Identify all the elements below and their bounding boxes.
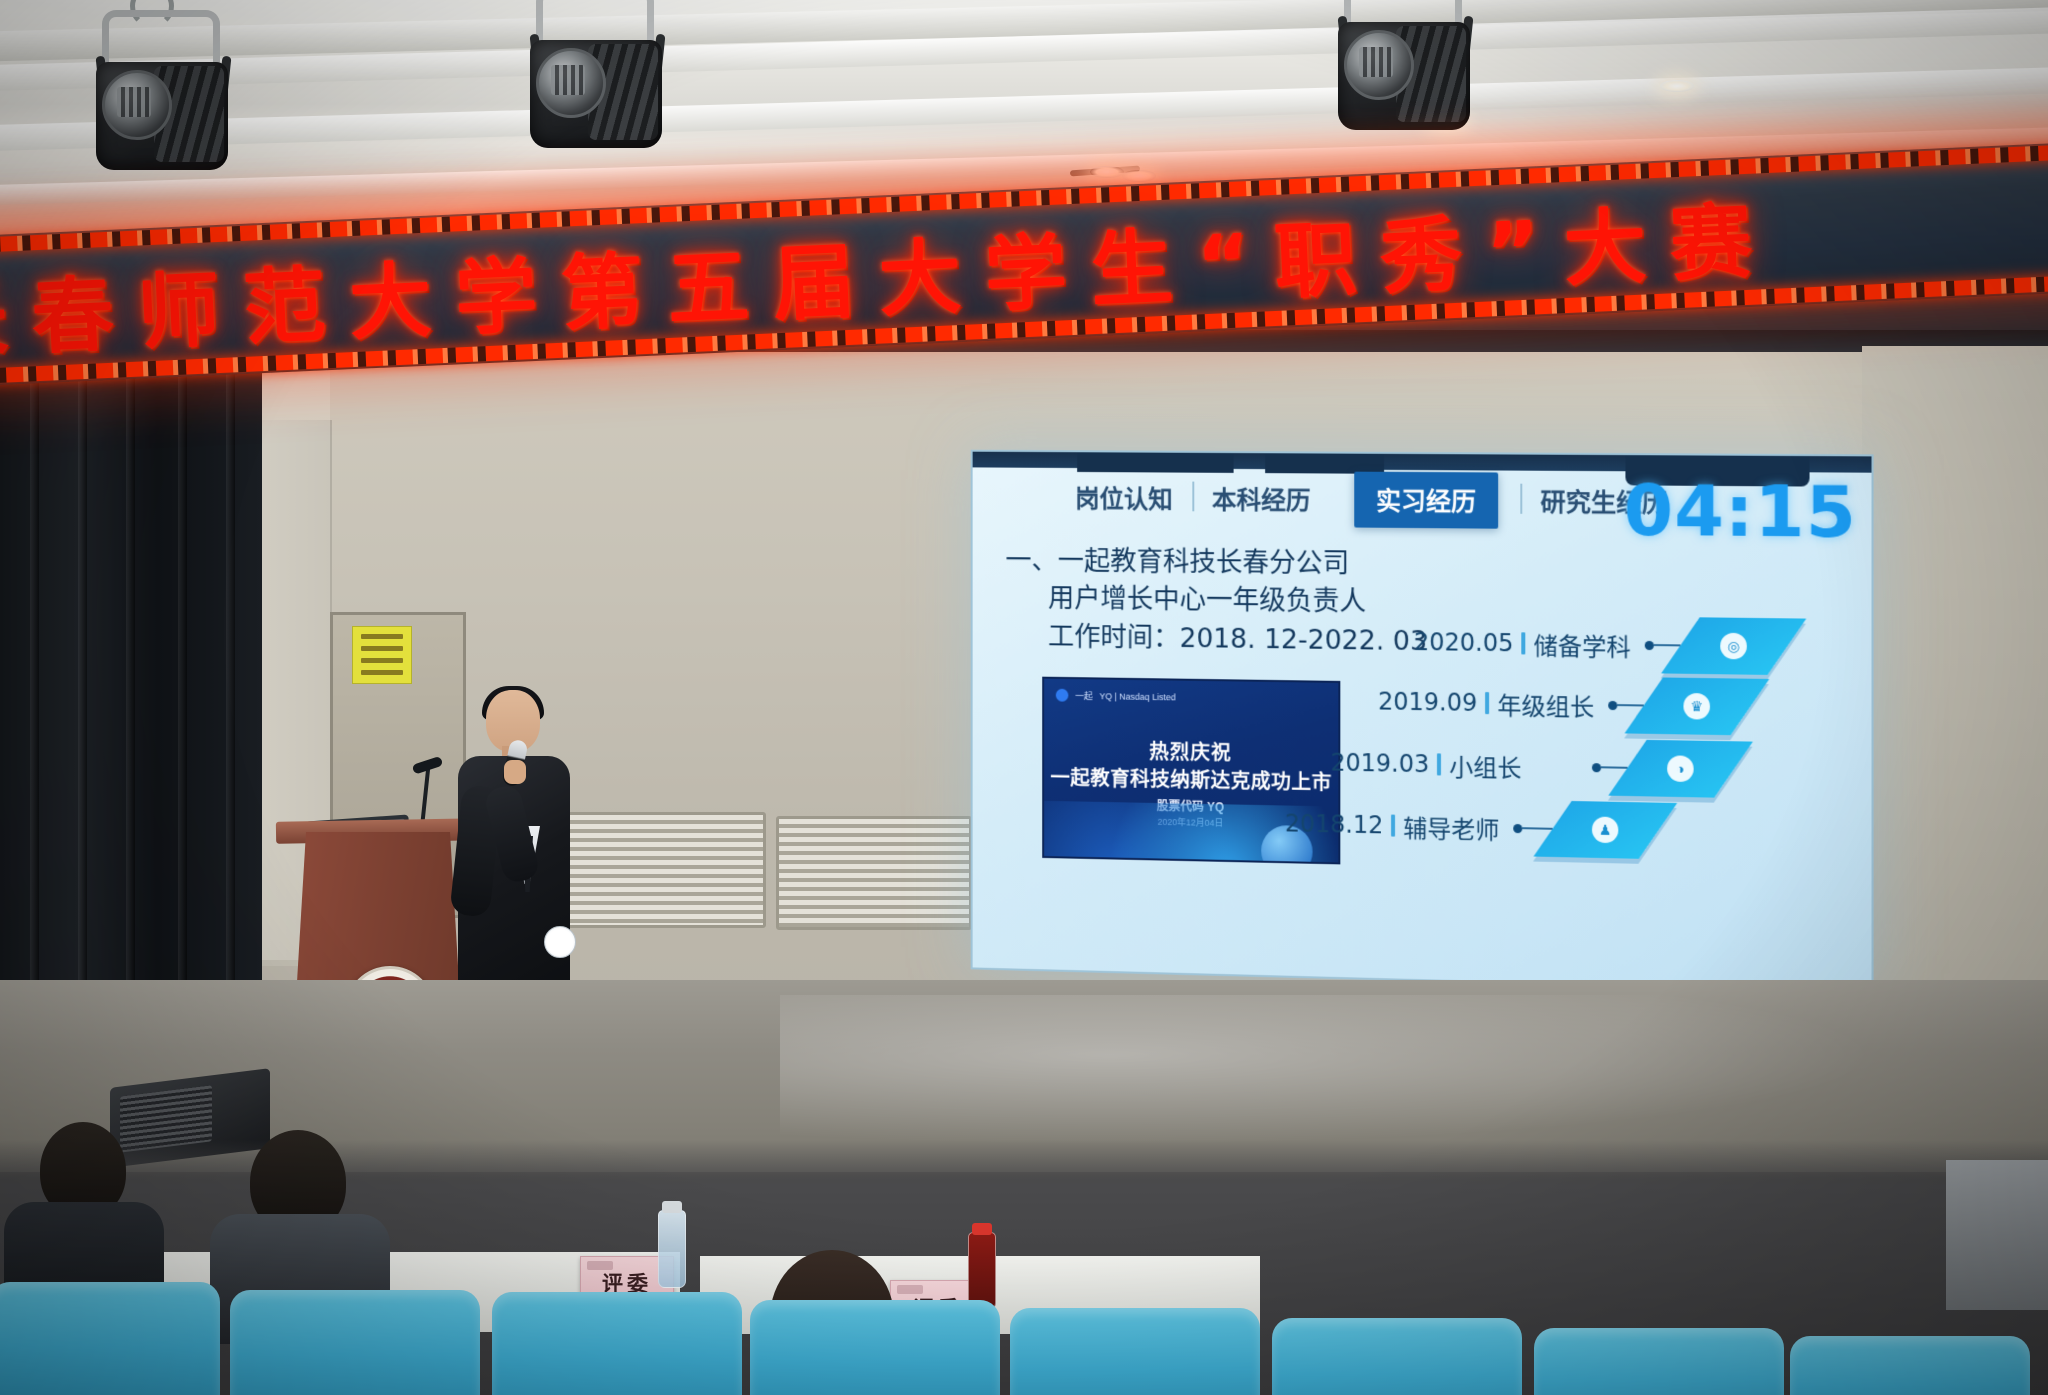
tab-job-awareness[interactable]: 岗位认知 bbox=[1056, 474, 1193, 522]
brand-logo-icon bbox=[1056, 689, 1069, 702]
timeline-dot bbox=[1608, 700, 1617, 709]
curtain-fold bbox=[178, 338, 187, 1038]
ceiling-downlight bbox=[1660, 80, 1694, 92]
slide-line-company: 一、一起教育科技长春分公司 bbox=[1005, 542, 1498, 585]
audience-seat[interactable] bbox=[1790, 1336, 2030, 1395]
poster-brand-row: 一起 YQ | Nasdaq Listed bbox=[1056, 689, 1176, 704]
timeline-divider bbox=[1391, 815, 1395, 837]
curtain-fold bbox=[126, 338, 135, 1038]
timeline-connector bbox=[1601, 766, 1627, 768]
light-body bbox=[96, 62, 228, 170]
countdown-timer: 04:15 bbox=[1624, 469, 1857, 554]
tab-internship-experience[interactable]: 实习经历 bbox=[1354, 472, 1498, 529]
water-bottle bbox=[658, 1210, 686, 1288]
light-lens bbox=[536, 48, 606, 118]
curtain-fold bbox=[30, 338, 39, 1038]
timeline-item: 2019.03 小组长 ◑ bbox=[1330, 735, 1733, 798]
timeline-badge: ◎ bbox=[1661, 617, 1806, 675]
wall-air-vent bbox=[776, 816, 972, 930]
timeline-item: 2018.12 辅导老师 ♟ bbox=[1285, 796, 1658, 860]
audience-seat[interactable] bbox=[230, 1290, 480, 1395]
tab-undergrad-experience[interactable]: 本科经历 bbox=[1192, 475, 1330, 524]
teacher-icon: ♟ bbox=[1592, 816, 1618, 843]
timeline-item: 2020.05 储备学科 ◎ bbox=[1414, 614, 1787, 675]
wall-air-vent bbox=[560, 812, 766, 928]
floor-reflection bbox=[780, 995, 1880, 1145]
timeline-dot bbox=[1513, 823, 1522, 832]
door-warning-sign bbox=[352, 626, 412, 684]
timeline-divider bbox=[1485, 692, 1489, 714]
poster-brand: 一起 bbox=[1075, 689, 1093, 702]
slide-canvas: 岗位认知 本科经历 实习经历 研究生经历 04:15 一、一起教育科技长春分公司… bbox=[973, 452, 1872, 991]
audience-seat[interactable] bbox=[1534, 1328, 1784, 1395]
stage-curtain bbox=[0, 338, 262, 1038]
curtain-fold bbox=[226, 338, 235, 1038]
timeline-date: 2018.12 bbox=[1285, 809, 1383, 839]
timeline-role: 储备学科 bbox=[1534, 626, 1631, 662]
crown-icon: ♛ bbox=[1684, 693, 1711, 720]
timeline-divider bbox=[1437, 753, 1441, 775]
timeline-badge: ♛ bbox=[1625, 677, 1770, 735]
presenter-badge bbox=[544, 926, 576, 958]
timeline-connector bbox=[1618, 704, 1644, 706]
timeline-connector bbox=[1523, 827, 1553, 830]
light-lens bbox=[102, 70, 172, 140]
timeline-badge: ◑ bbox=[1609, 740, 1754, 798]
light-lens bbox=[1344, 30, 1414, 100]
medal-icon: ◎ bbox=[1720, 633, 1747, 660]
audience-seat[interactable] bbox=[750, 1300, 1000, 1395]
auditorium-stage-photo: 长春师范大学第五届大学生“职秀”大赛 岗位认知 本科经历 实习经历 研究生经历 … bbox=[0, 0, 2048, 1395]
poster-subheadline: 一起教育科技纳斯达克成功上市 bbox=[1044, 761, 1338, 795]
soda-bottle bbox=[968, 1232, 996, 1310]
audience-seat[interactable] bbox=[492, 1292, 742, 1395]
timeline-date: 2019.03 bbox=[1330, 749, 1429, 779]
slide-notch bbox=[1077, 452, 1233, 473]
rear-equipment-case bbox=[1946, 1160, 2048, 1310]
audience-seat[interactable] bbox=[1272, 1318, 1522, 1395]
timeline-role: 小组长 bbox=[1449, 747, 1521, 783]
poster-brand-sub: YQ | Nasdaq Listed bbox=[1100, 691, 1176, 702]
light-body bbox=[1338, 22, 1470, 130]
timeline-role: 年级组长 bbox=[1497, 686, 1594, 723]
presentation-screen[interactable]: 岗位认知 本科经历 实习经历 研究生经历 04:15 一、一起教育科技长春分公司… bbox=[971, 450, 1874, 993]
timeline-connector bbox=[1654, 644, 1680, 646]
career-timeline: 2020.05 储备学科 ◎ 2019.09 年级组长 bbox=[1330, 613, 1857, 904]
timeline-dot bbox=[1645, 640, 1654, 649]
light-body bbox=[530, 40, 662, 148]
timeline-date: 2019.09 bbox=[1378, 687, 1477, 717]
audience-seat[interactable] bbox=[1010, 1308, 1260, 1395]
timeline-divider bbox=[1522, 632, 1526, 654]
timeline-item: 2019.09 年级组长 ♛ bbox=[1378, 673, 1750, 735]
timeline-role: 辅导老师 bbox=[1403, 808, 1499, 845]
timeline-badge: ♟ bbox=[1534, 801, 1678, 859]
curtain-fold bbox=[78, 338, 87, 1038]
timeline-dot bbox=[1592, 763, 1601, 772]
timeline-date: 2020.05 bbox=[1414, 628, 1513, 657]
audience-foreground: 评委 评委 bbox=[0, 1140, 2048, 1395]
flag-icon: ◑ bbox=[1667, 755, 1694, 782]
presenter-hand bbox=[504, 760, 526, 784]
audience-seat[interactable] bbox=[0, 1282, 220, 1395]
